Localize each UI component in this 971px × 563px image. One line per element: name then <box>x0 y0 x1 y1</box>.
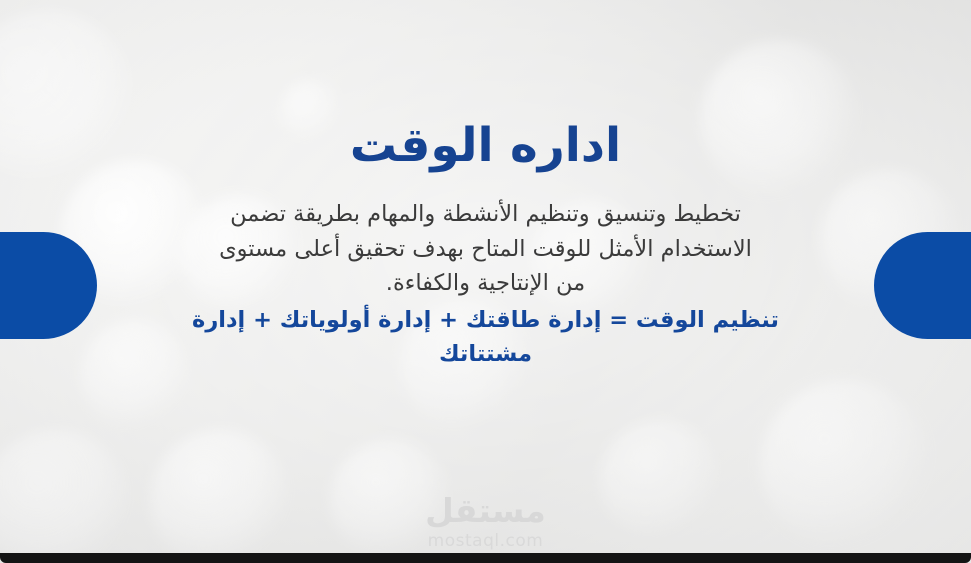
bottom-bar <box>0 553 971 563</box>
slide-body: تخطيط وتنسيق وتنظيم الأنشطة والمهام بطري… <box>156 197 816 300</box>
body-line: من الإنتاجية والكفاءة. <box>156 266 816 300</box>
slide-title: اداره الوقت <box>0 118 971 173</box>
presentation-slide: اداره الوقت تخطيط وتنسيق وتنظيم الأنشطة … <box>0 0 971 563</box>
body-line: تخطيط وتنسيق وتنظيم الأنشطة والمهام بطري… <box>156 197 816 231</box>
slide-formula: تنظيم الوقت = إدارة طاقتك + إدارة أولويا… <box>156 303 816 371</box>
body-line: الاستخدام الأمثل للوقت المتاح بهدف تحقيق… <box>156 232 816 266</box>
formula-line: تنظيم الوقت = إدارة طاقتك + إدارة أولويا… <box>156 303 816 337</box>
formula-line: مشتتاتك <box>156 337 816 371</box>
slide-content: اداره الوقت تخطيط وتنسيق وتنظيم الأنشطة … <box>0 118 971 371</box>
